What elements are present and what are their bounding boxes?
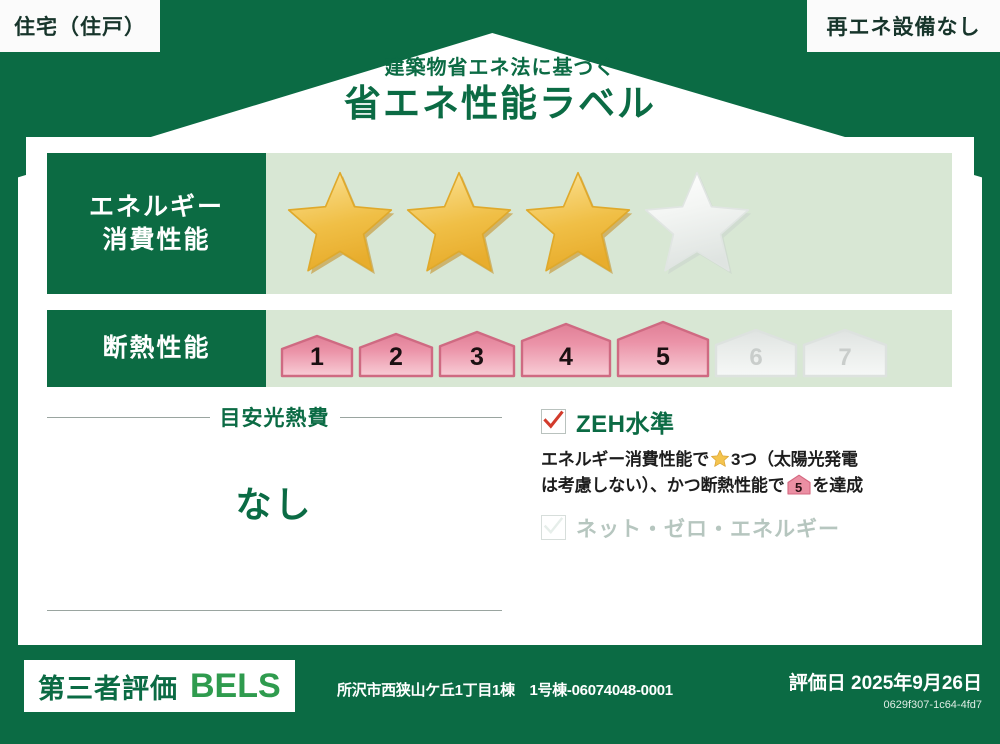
renewable-energy-tag: 再エネ設備なし [807,0,1000,52]
energy-performance-label-line1: エネルギー [89,191,224,224]
evaluation-info: 評価日 2025年9月26日 0629f307-1c64-4fd7 [789,668,982,711]
star-icon-filled [281,168,399,280]
check-icon [541,408,566,433]
utility-cost-heading-row: 目安光熱費 [47,402,502,432]
insulation-performance-row: 断熱性能 1234567 [47,310,952,387]
utility-cost-bottom-rule [47,610,502,611]
bels-badge: 第三者評価 BELS [24,660,295,712]
evaluation-hash: 0629f307-1c64-4fd7 [789,699,982,711]
zeh-heading-row: ZEH水準 [541,404,951,439]
insulation-badge-number: 5 [616,343,710,372]
net-zero-energy-label: ネット・ゼロ・エネルギー [576,513,840,543]
renewable-energy-tag-label: 再エネ設備なし [827,11,981,41]
building-type-tag-label: 住宅（住戸） [14,11,146,41]
insulation-badge-active: 4 [520,322,612,378]
insulation-badge-active: 2 [358,332,434,378]
energy-performance-label: 住宅（住戸） 再エネ設備なし 建築物省エネ法に基づく 省エネ性能ラベル エネルギ… [0,0,1000,744]
energy-performance-label-line2: 消費性能 [102,224,210,257]
star-icon-empty [638,168,756,280]
zeh-desc-part1: エネルギー消費性能で [541,450,709,469]
insulation-badge-active: 1 [280,334,354,378]
zeh-description: エネルギー消費性能で 3つ（太陽光発電 は考慮しない）、かつ断熱性能で 5 を達… [541,447,951,499]
net-zero-energy-checkbox[interactable] [541,515,566,540]
star-rating [281,168,756,280]
zeh-desc-part3: は考慮しない）、かつ断熱性能で [541,476,785,495]
insulation-performance-label-cell: 断熱性能 [47,310,266,387]
utility-cost-heading: 目安光熱費 [220,402,330,432]
zeh-panel: ZEH水準 エネルギー消費性能で 3つ（太陽光発電 は考慮しない）、かつ断熱性能… [541,404,951,543]
evaluation-date-value: 2025年9月26日 [851,673,982,694]
insulation-badge-inline-number: 5 [787,481,811,494]
insulation-badge-inactive: 6 [714,328,798,378]
insulation-badge-number: 1 [280,343,354,372]
zeh-desc-part2: 3つ（太陽光発電 [731,450,858,469]
insulation-badge-number: 2 [358,343,434,372]
heading-rule-right [340,417,503,418]
utility-cost-value: なし [47,476,502,528]
star-icon-inline [710,449,730,468]
star-icon-filled [519,168,637,280]
insulation-badge-inactive: 7 [802,328,888,378]
insulation-badge-active: 5 [616,320,710,378]
energy-performance-label-cell: エネルギー 消費性能 [47,153,266,294]
insulation-performance-rating: 1234567 [266,310,952,387]
insulation-badge-number: 7 [802,344,888,372]
net-zero-energy-row: ネット・ゼロ・エネルギー [541,513,951,543]
insulation-badge-number: 6 [714,344,798,372]
insulation-badge-number: 3 [438,343,516,372]
building-type-tag: 住宅（住戸） [0,0,160,52]
bels-en-label: BELS [190,667,281,706]
heading-rule-left [47,417,210,418]
evaluation-date-label: 評価日 [789,673,846,694]
utility-cost-panel: 目安光熱費 なし [47,402,502,617]
insulation-performance-label: 断熱性能 [102,332,210,365]
zeh-desc-part4: を達成 [813,476,863,495]
insulation-badge-active: 3 [438,330,516,378]
evaluation-date-line: 評価日 2025年9月26日 [789,668,982,695]
insulation-badge-number: 4 [520,343,612,372]
energy-performance-rating [266,153,952,294]
insulation-level-scale: 1234567 [280,320,888,378]
zeh-title: ZEH水準 [576,404,675,439]
star-icon-filled [400,168,518,280]
energy-performance-row: エネルギー 消費性能 [47,153,952,294]
property-address: 所沢市西狭山ケ丘1丁目1棟 1号棟-06074048-0001 [337,679,673,700]
insulation-badge-inline: 5 [787,474,811,495]
check-icon-faint [541,514,566,539]
bels-jp-label: 第三者評価 [38,667,178,706]
zeh-checkbox[interactable] [541,409,566,434]
label-footer: 第三者評価 BELS 所沢市西狭山ケ丘1丁目1棟 1号棟-06074048-00… [0,646,1000,744]
